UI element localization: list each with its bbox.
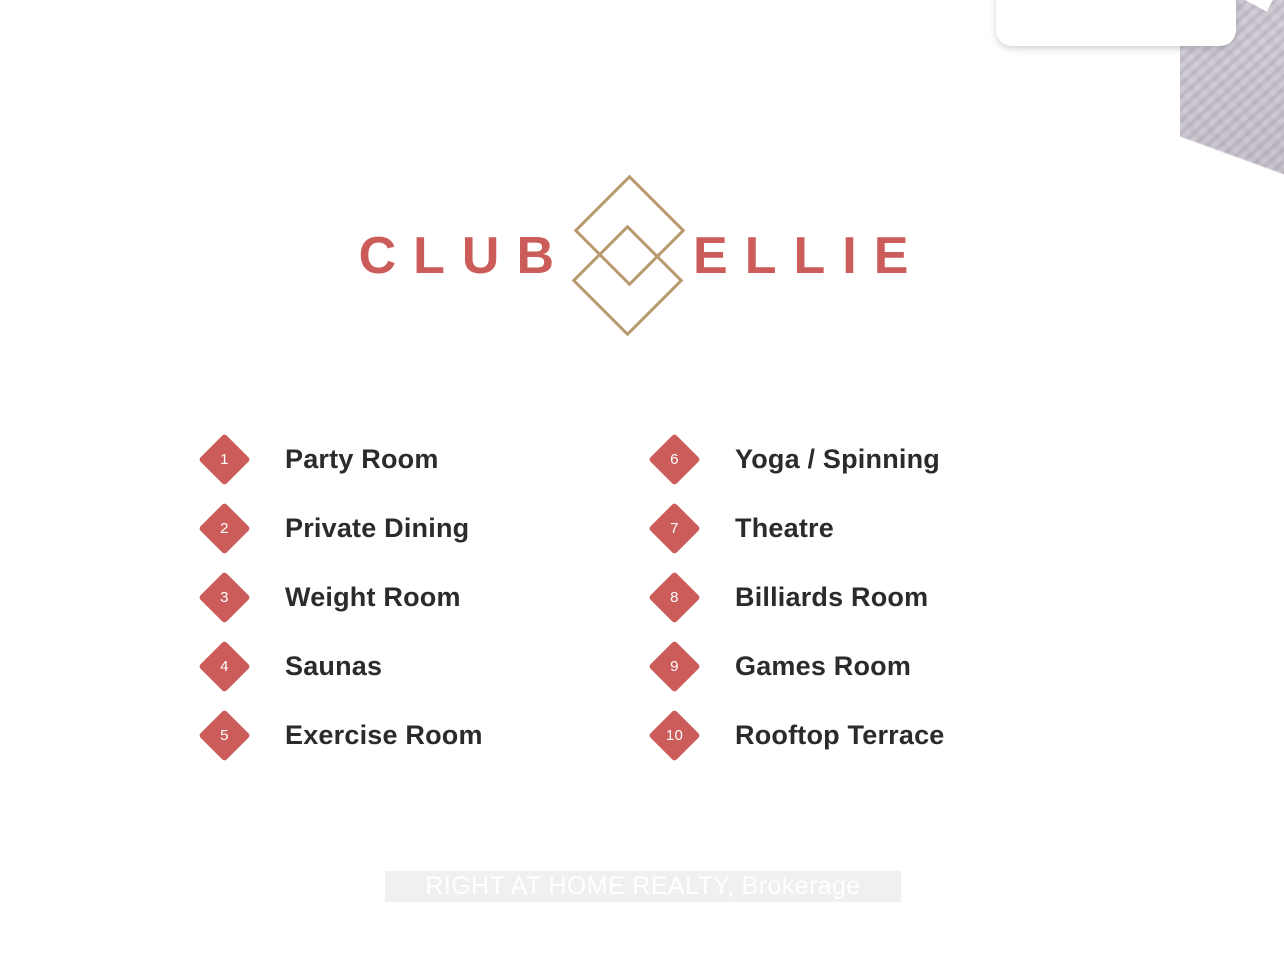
badge-number: 3 [206,579,243,616]
amenity-label: Rooftop Terrace [735,720,945,751]
badge-number: 2 [206,510,243,547]
amenity-label: Private Dining [285,513,469,544]
amenities-list: 1 Party Room 2 Private Dining 3 Weight R… [0,425,1284,770]
list-item: 9 Games Room [642,632,1092,701]
badge-number: 6 [656,441,693,478]
amenities-column-left: 1 Party Room 2 Private Dining 3 Weight R… [192,425,642,770]
badge-number: 7 [656,510,693,547]
list-item: 1 Party Room [192,425,642,494]
brokerage-watermark: RIGHT AT HOME REALTY, Brokerage [385,871,901,902]
number-diamond-badge: 1 [198,433,250,485]
number-diamond-badge: 6 [648,433,700,485]
amenity-label: Saunas [285,651,382,682]
list-item: 10 Rooftop Terrace [642,701,1092,770]
list-item: 2 Private Dining [192,494,642,563]
amenity-label: Exercise Room [285,720,483,751]
number-diamond-badge: 5 [198,709,250,761]
amenity-label: Games Room [735,651,911,682]
brand-word-ellie: ELLIE [693,230,925,282]
badge-number: 8 [656,579,693,616]
number-diamond-badge: 10 [648,709,700,761]
amenity-label: Billiards Room [735,582,928,613]
number-diamond-badge: 8 [648,571,700,623]
brand-logo: CLUB ELLIE [0,176,1284,336]
number-diamond-badge: 3 [198,571,250,623]
number-diamond-badge: 4 [198,640,250,692]
amenity-label: Theatre [735,513,834,544]
number-diamond-badge: 7 [648,502,700,554]
number-diamond-badge: 9 [648,640,700,692]
list-item: 4 Saunas [192,632,642,701]
double-diamond-logo-mark [575,181,679,331]
amenity-label: Weight Room [285,582,461,613]
brand-word-club: CLUB [359,230,571,282]
brokerage-watermark-text: RIGHT AT HOME REALTY, Brokerage [425,872,860,901]
badge-number: 9 [656,648,693,685]
list-item: 7 Theatre [642,494,1092,563]
list-item: 6 Yoga / Spinning [642,425,1092,494]
badge-number: 1 [206,441,243,478]
list-item: 8 Billiards Room [642,563,1092,632]
badge-number: 10 [656,717,693,754]
badge-number: 5 [206,717,243,754]
slide-canvas: CLUB ELLIE 1 Party Room 2 Private Dining [0,0,1284,953]
badge-number: 4 [206,648,243,685]
amenity-label: Yoga / Spinning [735,444,940,475]
list-item: 3 Weight Room [192,563,642,632]
amenities-column-right: 6 Yoga / Spinning 7 Theatre 8 Billiards … [642,425,1092,770]
corner-card-edge [996,0,1236,46]
amenity-label: Party Room [285,444,439,475]
list-item: 5 Exercise Room [192,701,642,770]
number-diamond-badge: 2 [198,502,250,554]
